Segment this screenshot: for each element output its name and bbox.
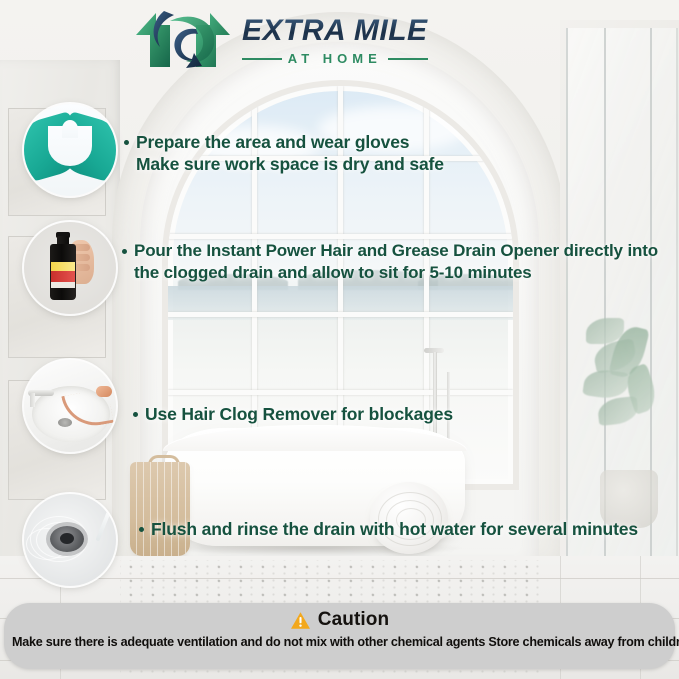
step-1-line-1: Prepare the area and wear gloves — [136, 132, 409, 152]
step-1-line-2: Make sure work space is dry and safe — [136, 153, 444, 175]
logo-rule-right — [388, 58, 428, 60]
logo-subtitle-row: AT HOME — [242, 51, 428, 66]
step-4-line-1: Flush and rinse the drain with hot water… — [151, 519, 638, 539]
bullet-dot — [139, 527, 144, 532]
sink-with-drain-snake-icon — [24, 360, 116, 452]
infographic-page: EXTRA MILE AT HOME — [0, 0, 679, 679]
house-arrows-logo-icon — [130, 5, 238, 75]
brand-logo: EXTRA MILE AT HOME — [130, 4, 480, 76]
step-3-line-1: Use Hair Clog Remover for blockages — [145, 404, 453, 424]
logo-title: EXTRA MILE — [242, 16, 428, 46]
bullet-dot — [133, 412, 138, 417]
step-2-line-2: the clogged drain and allow to sit for 5… — [134, 262, 658, 284]
step-2-text: Pour the Instant Power Hair and Grease D… — [122, 240, 658, 284]
caution-header: Caution — [4, 603, 675, 631]
infographic-content: EXTRA MILE AT HOME — [0, 0, 679, 679]
step-2-line-1: Pour the Instant Power Hair and Grease D… — [134, 241, 658, 260]
logo-subtitle: AT HOME — [288, 51, 382, 66]
step-4-text: Flush and rinse the drain with hot water… — [139, 518, 638, 540]
logo-rule-left — [242, 58, 282, 60]
caution-banner: Caution Make sure there is adequate vent… — [4, 603, 675, 669]
bullet-dot — [122, 249, 127, 254]
bullet-dot — [124, 140, 129, 145]
hand-holding-drain-opener-bottle-icon — [24, 222, 116, 314]
step-3-text: Use Hair Clog Remover for blockages — [133, 403, 453, 425]
gloved-hands-heart-icon — [24, 104, 116, 196]
step-1-text: Prepare the area and wear gloves Make su… — [124, 131, 444, 175]
water-flushing-drain-icon — [24, 494, 116, 586]
warning-triangle-icon — [290, 611, 311, 630]
caution-body-text: Make sure there is adequate ventilation … — [4, 635, 675, 649]
caution-title: Caution — [318, 609, 389, 631]
